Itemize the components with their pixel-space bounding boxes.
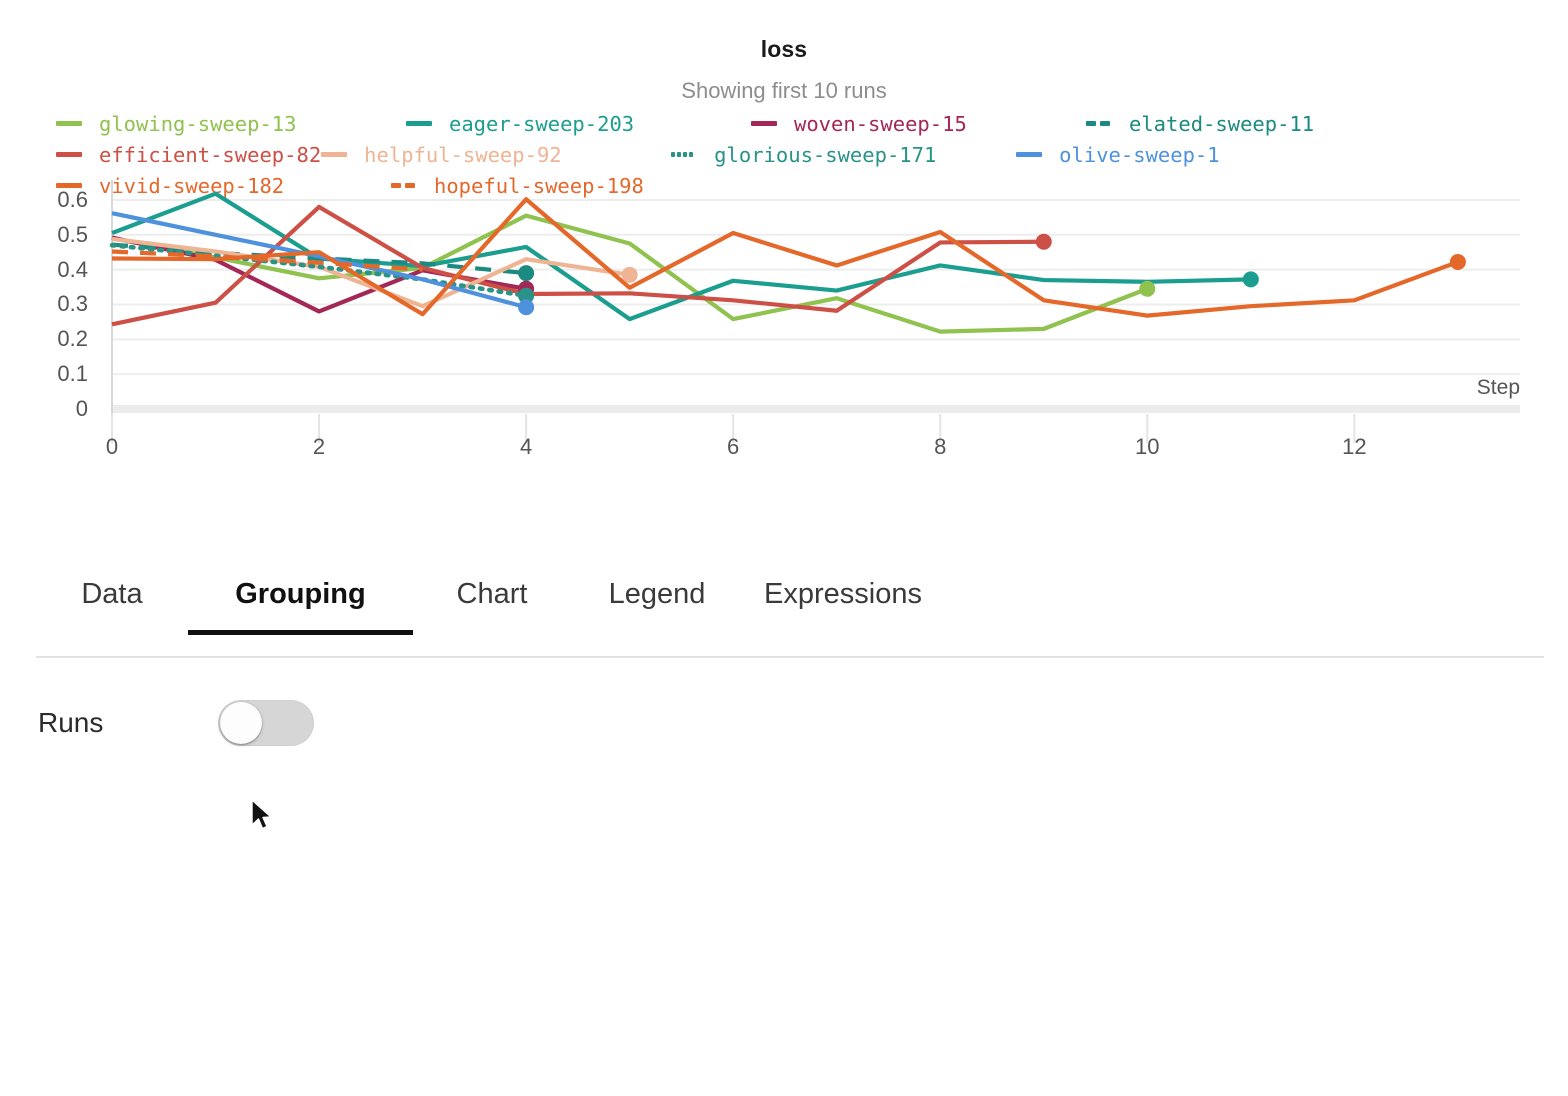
runs-toggle[interactable]: [218, 700, 314, 746]
legend-item[interactable]: efficient-sweep-82: [56, 139, 321, 170]
legend-item-label: woven-sweep-15: [794, 112, 967, 136]
line-chart-svg: [0, 170, 1568, 470]
legend-item[interactable]: glorious-sweep-171: [671, 139, 1016, 170]
legend-swatch-icon: [56, 152, 82, 157]
legend-swatch-icon: [406, 121, 432, 126]
series-endpoint-marker: [518, 265, 534, 281]
page-title: loss: [0, 36, 1568, 63]
series-endpoint-marker: [1450, 254, 1466, 270]
legend-item[interactable]: eager-sweep-203: [406, 108, 751, 139]
legend-item-label: efficient-sweep-82: [99, 143, 321, 167]
legend-swatch-icon: [321, 152, 347, 157]
x-axis-tick-label: 12: [1324, 434, 1384, 460]
series-endpoint-marker: [518, 299, 534, 315]
tab-data[interactable]: Data: [36, 570, 188, 633]
legend-item-label: eager-sweep-203: [449, 112, 634, 136]
mouse-cursor: [250, 798, 276, 834]
x-axis-tick-label: 8: [910, 434, 970, 460]
legend-item-label: glowing-sweep-13: [99, 112, 296, 136]
legend-item-label: olive-sweep-1: [1059, 143, 1219, 167]
chart-panel: loss Showing first 10 runs glowing-sweep…: [0, 0, 1568, 480]
legend-swatch-icon: [671, 152, 697, 157]
legend-item[interactable]: olive-sweep-1: [1016, 139, 1351, 170]
tab-chart[interactable]: Chart: [413, 570, 571, 633]
legend-item-label: glorious-sweep-171: [714, 143, 936, 167]
series-endpoint-marker: [1036, 234, 1052, 250]
runs-label: Runs: [38, 707, 218, 739]
x-axis-tick-label: 2: [289, 434, 349, 460]
x-axis-tick-label: 10: [1117, 434, 1177, 460]
tab-label: Legend: [609, 578, 706, 610]
chart-config-page: loss Showing first 10 runs glowing-sweep…: [0, 0, 1568, 1096]
legend-item[interactable]: glowing-sweep-13: [56, 108, 406, 139]
legend-swatch-icon: [1086, 121, 1112, 126]
legend-swatch-icon: [1016, 152, 1042, 157]
legend-item[interactable]: helpful-sweep-92: [321, 139, 671, 170]
tab-grouping[interactable]: Grouping: [188, 570, 413, 633]
series-endpoint-marker: [1243, 271, 1259, 287]
legend-item-label: elated-sweep-11: [1129, 112, 1314, 136]
tab-expressions[interactable]: Expressions: [743, 570, 943, 633]
legend-item[interactable]: woven-sweep-15: [751, 108, 1086, 139]
tab-label: Data: [81, 578, 142, 610]
legend-swatch-icon: [751, 121, 777, 126]
x-axis-tick-label: 0: [82, 434, 142, 460]
tab-label: Expressions: [764, 578, 922, 610]
tab-legend[interactable]: Legend: [571, 570, 743, 633]
plot-area: 00.10.20.30.40.50.6 024681012 Step: [0, 170, 1568, 470]
x-axis-tick-label: 4: [496, 434, 556, 460]
runs-grouping-row: Runs: [38, 700, 314, 746]
series-endpoint-marker: [622, 267, 638, 283]
tab-label: Chart: [457, 578, 528, 610]
legend-item-label: helpful-sweep-92: [364, 143, 561, 167]
config-tabs: DataGroupingChartLegendExpressions: [36, 570, 1544, 658]
runs-toggle-knob: [220, 702, 262, 744]
series-endpoint-marker: [1139, 281, 1155, 297]
x-axis-tick-label: 6: [703, 434, 763, 460]
legend-swatch-icon: [56, 121, 82, 126]
x-axis-label: Step: [1477, 376, 1520, 400]
tab-label: Grouping: [235, 578, 365, 610]
chart-subtitle: Showing first 10 runs: [0, 78, 1568, 104]
legend-item[interactable]: elated-sweep-11: [1086, 108, 1421, 139]
